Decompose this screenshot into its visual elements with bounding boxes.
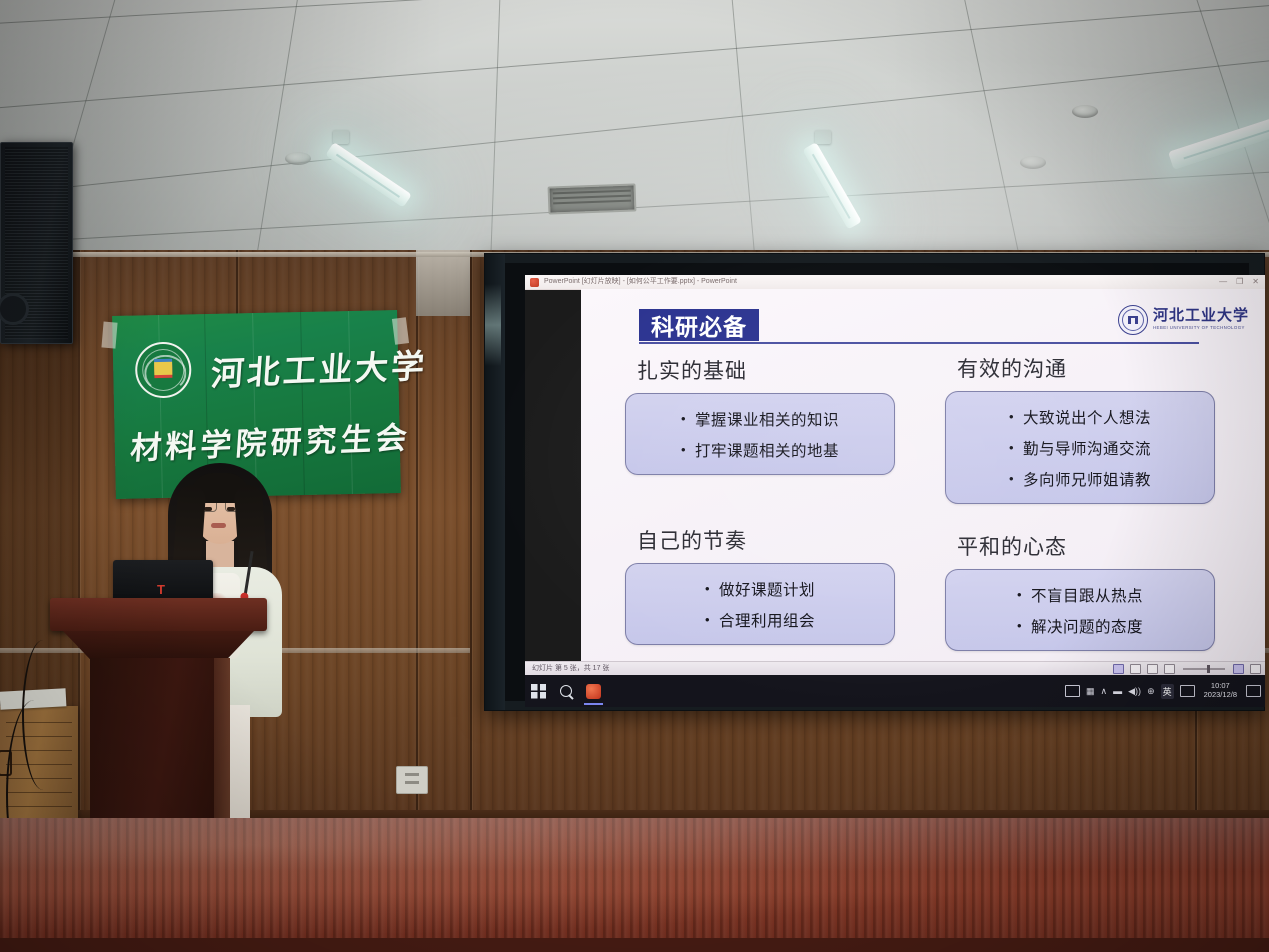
ime-language-indicator[interactable]: 英 [1161, 684, 1174, 699]
action-center-icon[interactable] [1246, 685, 1261, 697]
list-item: •掌握课业相关的知识 [626, 403, 894, 434]
bullet-icon: • [1009, 410, 1014, 423]
slide-title: 科研必备 [639, 309, 759, 341]
slide-canvas[interactable]: 科研必备 河北工业大学 HEBEI UNIVERSITY OF TECHNOLO… [581, 289, 1265, 681]
wall-speaker [0, 142, 73, 344]
windows-taskbar[interactable]: ▦ ∧ ▬ ◀)) ⊕ 英 10:07 2023/12/8 [525, 675, 1265, 707]
university-name-en: HEBEI UNIVERSITY OF TECHNOLOGY [1153, 326, 1249, 330]
ime-panel-icon[interactable]: ▦ [1086, 687, 1095, 696]
list-item: •做好课题计划 [626, 573, 894, 604]
lecture-hall-photo: 河北工业大学 材料学院研究生会 T [0, 0, 1269, 952]
clock-date: 2023/12/8 [1204, 691, 1237, 700]
chevron-up-icon[interactable]: ∧ [1101, 687, 1108, 696]
network-icon[interactable]: ▬ [1113, 687, 1122, 696]
ceiling [0, 0, 1269, 258]
minimize-icon[interactable]: — [1219, 278, 1227, 286]
bullet-icon: • [1017, 588, 1022, 601]
search-icon[interactable] [560, 685, 572, 697]
list-item: •解决问题的态度 [946, 610, 1214, 641]
slide-counter: 幻灯片 第 5 张，共 17 张 [532, 663, 609, 674]
zoom-level-button[interactable] [1233, 664, 1244, 674]
banner-university-name: 河北工业大学 [210, 341, 393, 396]
restore-icon[interactable]: ❐ [1236, 278, 1243, 286]
bullet-icon: • [1017, 619, 1022, 632]
banner-tape-left [101, 322, 117, 349]
quadrant-pace: 自己的节奏 •做好课题计划 •合理利用组会 [601, 525, 921, 645]
wall-power-outlet [396, 766, 428, 794]
projection-screen: PowerPoint [幻灯片放映] - [如何公平工作要.pptx] - Po… [484, 253, 1265, 711]
shield-icon[interactable] [1180, 685, 1195, 697]
quadrant-heading: 自己的节奏 [637, 525, 921, 555]
floor-shadow-band [0, 938, 1269, 952]
university-name-cn: 河北工业大学 [1153, 309, 1249, 324]
slide-quadrants: 扎实的基础 •掌握课业相关的知识 •打牢课题相关的地基 有效的沟通 [581, 355, 1265, 675]
normal-view-button[interactable] [1113, 664, 1124, 674]
projected-desktop: PowerPoint [幻灯片放映] - [如何公平工作要.pptx] - Po… [505, 263, 1249, 701]
bullet-icon: • [705, 613, 710, 626]
window-title-bar: PowerPoint [幻灯片放映] - [如何公平工作要.pptx] - Po… [525, 275, 1265, 290]
bullet-icon: • [1009, 472, 1014, 485]
quadrant-box: •做好课题计划 •合理利用组会 [625, 563, 895, 645]
quadrant-heading: 有效的沟通 [957, 353, 1241, 383]
bullet-icon: • [681, 412, 686, 425]
quadrant-mindset: 平和的心态 •不盲目跟从热点 •解决问题的态度 [921, 531, 1241, 651]
volume-icon[interactable]: ◀)) [1128, 687, 1141, 696]
reading-view-button[interactable] [1147, 664, 1158, 674]
list-item: •大致说出个人想法 [946, 401, 1214, 432]
quadrant-box: •掌握课业相关的知识 •打牢课题相关的地基 [625, 393, 895, 475]
university-seal-icon [1118, 305, 1148, 335]
list-item: •打牢课题相关的地基 [626, 434, 894, 465]
taskbar-clock[interactable]: 10:07 2023/12/8 [1204, 682, 1237, 699]
view-controls[interactable] [1113, 662, 1261, 675]
powerpoint-window[interactable]: PowerPoint [幻灯片放映] - [如何公平工作要.pptx] - Po… [525, 275, 1265, 707]
floor [0, 818, 1269, 952]
start-button-icon[interactable] [531, 684, 546, 699]
slide-sorter-view-button[interactable] [1130, 664, 1141, 674]
university-logo: 河北工业大学 HEBEI UNIVERSITY OF TECHNOLOGY [1118, 305, 1249, 335]
list-item: •不盲目跟从热点 [946, 579, 1214, 610]
quadrant-heading: 扎实的基础 [637, 355, 921, 385]
list-item: •合理利用组会 [626, 604, 894, 635]
powerpoint-status-bar: 幻灯片 第 5 张，共 17 张 [525, 661, 1265, 675]
list-item: •勤与导师沟通交流 [946, 432, 1214, 463]
zoom-slider[interactable] [1183, 668, 1225, 670]
fit-slide-button[interactable] [1164, 664, 1175, 674]
close-icon[interactable]: ✕ [1252, 278, 1259, 286]
quadrant-heading: 平和的心态 [957, 531, 1241, 561]
notes-tray-icon[interactable] [1065, 685, 1080, 697]
quadrant-communication: 有效的沟通 •大致说出个人想法 •勤与导师沟通交流 •多向师兄师姐请教 [921, 353, 1241, 504]
laptop-brand-logo: T [157, 584, 167, 596]
slide-show-button[interactable] [1250, 664, 1261, 674]
slide-title-rule [639, 342, 1199, 344]
bullet-icon: • [705, 582, 710, 595]
bullet-icon: • [681, 443, 686, 456]
quadrant-box: •不盲目跟从热点 •解决问题的态度 [945, 569, 1215, 651]
powerpoint-icon [530, 278, 539, 287]
globe-icon[interactable]: ⊕ [1147, 687, 1155, 696]
window-controls[interactable]: — ❐ ✕ [1219, 275, 1263, 289]
window-title-text: PowerPoint [幻灯片放映] - [如何公平工作要.pptx] - Po… [544, 276, 737, 288]
student-union-emblem-icon [135, 341, 192, 398]
quadrant-box: •大致说出个人想法 •勤与导师沟通交流 •多向师兄师姐请教 [945, 391, 1215, 504]
powerpoint-taskbar-icon[interactable] [586, 684, 601, 699]
quadrant-foundation: 扎实的基础 •掌握课业相关的知识 •打牢课题相关的地基 [601, 355, 921, 475]
bullet-icon: • [1009, 441, 1014, 454]
list-item: •多向师兄师姐请教 [946, 463, 1214, 494]
